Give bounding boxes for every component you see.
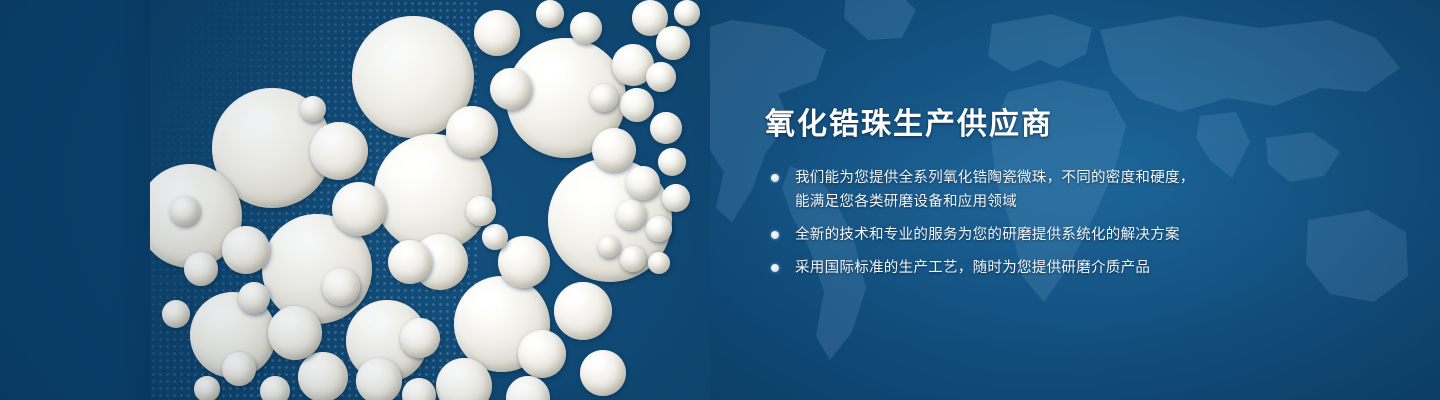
bead xyxy=(590,84,618,112)
bead xyxy=(646,216,672,242)
bead xyxy=(298,352,348,400)
page-title: 氧化锆珠生产供应商 xyxy=(765,104,1385,146)
feature-list: 我们能为您提供全系列氧化锆陶瓷微珠，不同的密度和硬度， 能满足您各类研磨设备和应… xyxy=(765,166,1385,280)
bead xyxy=(518,330,566,378)
bead xyxy=(388,240,432,284)
bead xyxy=(466,196,496,226)
bead xyxy=(194,376,220,400)
bead xyxy=(570,12,602,44)
list-item: 采用国际标准的生产工艺，随时为您提供研磨介质产品 xyxy=(765,256,1385,280)
bead xyxy=(620,88,654,122)
bead xyxy=(332,182,386,236)
list-item: 全新的技术和专业的服务为您的研磨提供系统化的解决方案 xyxy=(765,223,1385,247)
bead xyxy=(490,68,532,110)
bead xyxy=(400,318,440,358)
bead xyxy=(222,352,256,386)
bead xyxy=(626,166,660,200)
bead xyxy=(222,226,270,274)
bead xyxy=(356,358,402,400)
product-hero-banner: 氧化锆珠生产供应商 我们能为您提供全系列氧化锆陶瓷微珠，不同的密度和硬度， 能满… xyxy=(0,0,1440,400)
bead xyxy=(446,106,498,158)
bead xyxy=(482,224,508,250)
bead xyxy=(536,0,564,28)
bead xyxy=(238,282,270,314)
bead xyxy=(674,0,700,26)
bead xyxy=(580,350,626,396)
bead xyxy=(268,306,322,360)
bead xyxy=(300,96,326,122)
bead xyxy=(554,282,612,340)
bead xyxy=(650,112,682,144)
bead xyxy=(616,200,646,230)
list-item-line1: 我们能为您提供全系列氧化锆陶瓷微珠，不同的密度和硬度， xyxy=(795,166,1385,190)
bullet-dot-icon xyxy=(771,231,779,239)
bead xyxy=(184,252,218,286)
list-item-line1: 采用国际标准的生产工艺，随时为您提供研磨介质产品 xyxy=(795,256,1385,280)
bead xyxy=(662,184,690,212)
zirconia-beads-photo xyxy=(150,0,710,400)
bead xyxy=(658,148,686,176)
bead xyxy=(646,62,676,92)
bead xyxy=(310,122,368,180)
bead xyxy=(162,300,190,328)
bead xyxy=(648,252,670,274)
bead xyxy=(598,236,620,258)
bead xyxy=(322,268,360,306)
bead xyxy=(592,128,636,172)
bead xyxy=(474,10,520,56)
bullet-dot-icon xyxy=(771,174,779,182)
list-item-line2: 能满足您各类研磨设备和应用领域 xyxy=(795,190,1385,214)
banner-content: 氧化锆珠生产供应商 我们能为您提供全系列氧化锆陶瓷微珠，不同的密度和硬度， 能满… xyxy=(765,104,1385,280)
list-item-line1: 全新的技术和专业的服务为您的研磨提供系统化的解决方案 xyxy=(795,223,1385,247)
bullet-dot-icon xyxy=(771,264,779,272)
bead xyxy=(506,376,550,400)
bead xyxy=(170,196,200,226)
bead xyxy=(656,26,690,60)
beads-layer xyxy=(150,0,710,400)
bead xyxy=(620,246,646,272)
list-item: 我们能为您提供全系列氧化锆陶瓷微珠，不同的密度和硬度， 能满足您各类研磨设备和应… xyxy=(765,166,1385,214)
bead xyxy=(402,378,436,400)
bead xyxy=(260,376,290,400)
